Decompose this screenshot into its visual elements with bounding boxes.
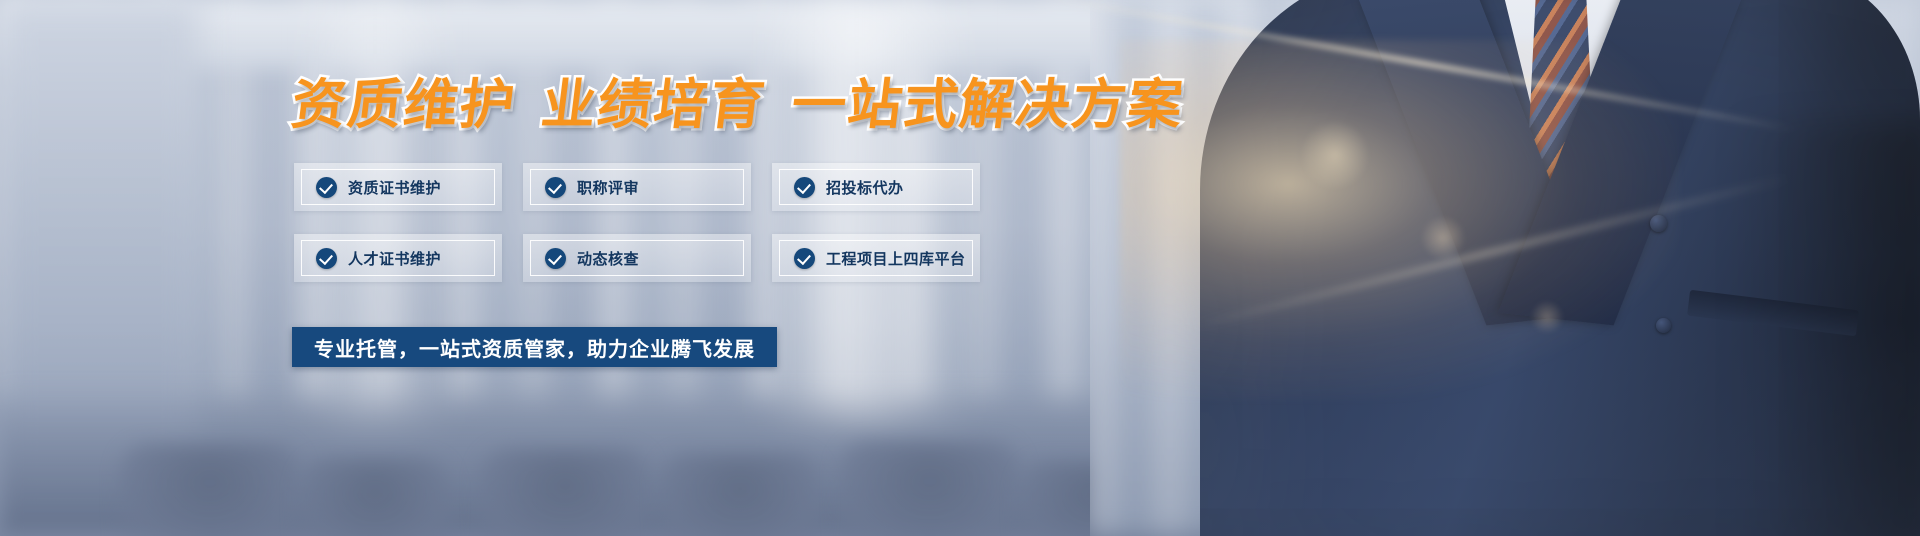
feature-label: 招投标代办	[826, 177, 904, 198]
feature-label: 职称评审	[577, 177, 639, 198]
feature-item-dynamic-verification[interactable]: 动态核查	[523, 234, 751, 282]
check-circle-icon	[794, 248, 815, 269]
feature-item-project-four-database-platform[interactable]: 工程项目上四库平台	[772, 234, 980, 282]
feature-item-qualification-certificate-maintenance[interactable]: 资质证书维护	[294, 163, 502, 211]
tagline-bar: 专业托管，一站式资质管家，助力企业腾飞发展	[292, 327, 777, 367]
headline: 资质维护业绩培育一站式解决方案	[289, 78, 1188, 132]
feature-item-bidding-agency[interactable]: 招投标代办	[772, 163, 980, 211]
tagline-text: 专业托管，一站式资质管家，助力企业腾飞发展	[314, 333, 755, 362]
feature-label: 人才证书维护	[348, 248, 441, 269]
check-circle-icon	[794, 177, 815, 198]
check-circle-icon	[316, 248, 337, 269]
hero-banner: 资质维护业绩培育一站式解决方案 资质证书维护 职称评审 招投标代办 人才证书维护	[0, 0, 1920, 536]
feature-item-title-evaluation[interactable]: 职称评审	[523, 163, 751, 211]
check-circle-icon	[545, 177, 566, 198]
headline-segment-3: 一站式解决方案	[788, 73, 1188, 136]
banner-content: 资质维护业绩培育一站式解决方案 资质证书维护 职称评审 招投标代办 人才证书维护	[0, 0, 1920, 536]
feature-label: 资质证书维护	[348, 177, 441, 198]
headline-segment-1: 资质维护	[288, 73, 520, 136]
headline-segment-2: 业绩培育	[538, 73, 770, 136]
feature-item-talent-certificate-maintenance[interactable]: 人才证书维护	[294, 234, 502, 282]
feature-label: 动态核查	[577, 248, 639, 269]
feature-label: 工程项目上四库平台	[826, 248, 966, 269]
feature-grid: 资质证书维护 职称评审 招投标代办 人才证书维护 动态核查 工程项目上四库平台	[294, 163, 980, 282]
check-circle-icon	[545, 248, 566, 269]
check-circle-icon	[316, 177, 337, 198]
